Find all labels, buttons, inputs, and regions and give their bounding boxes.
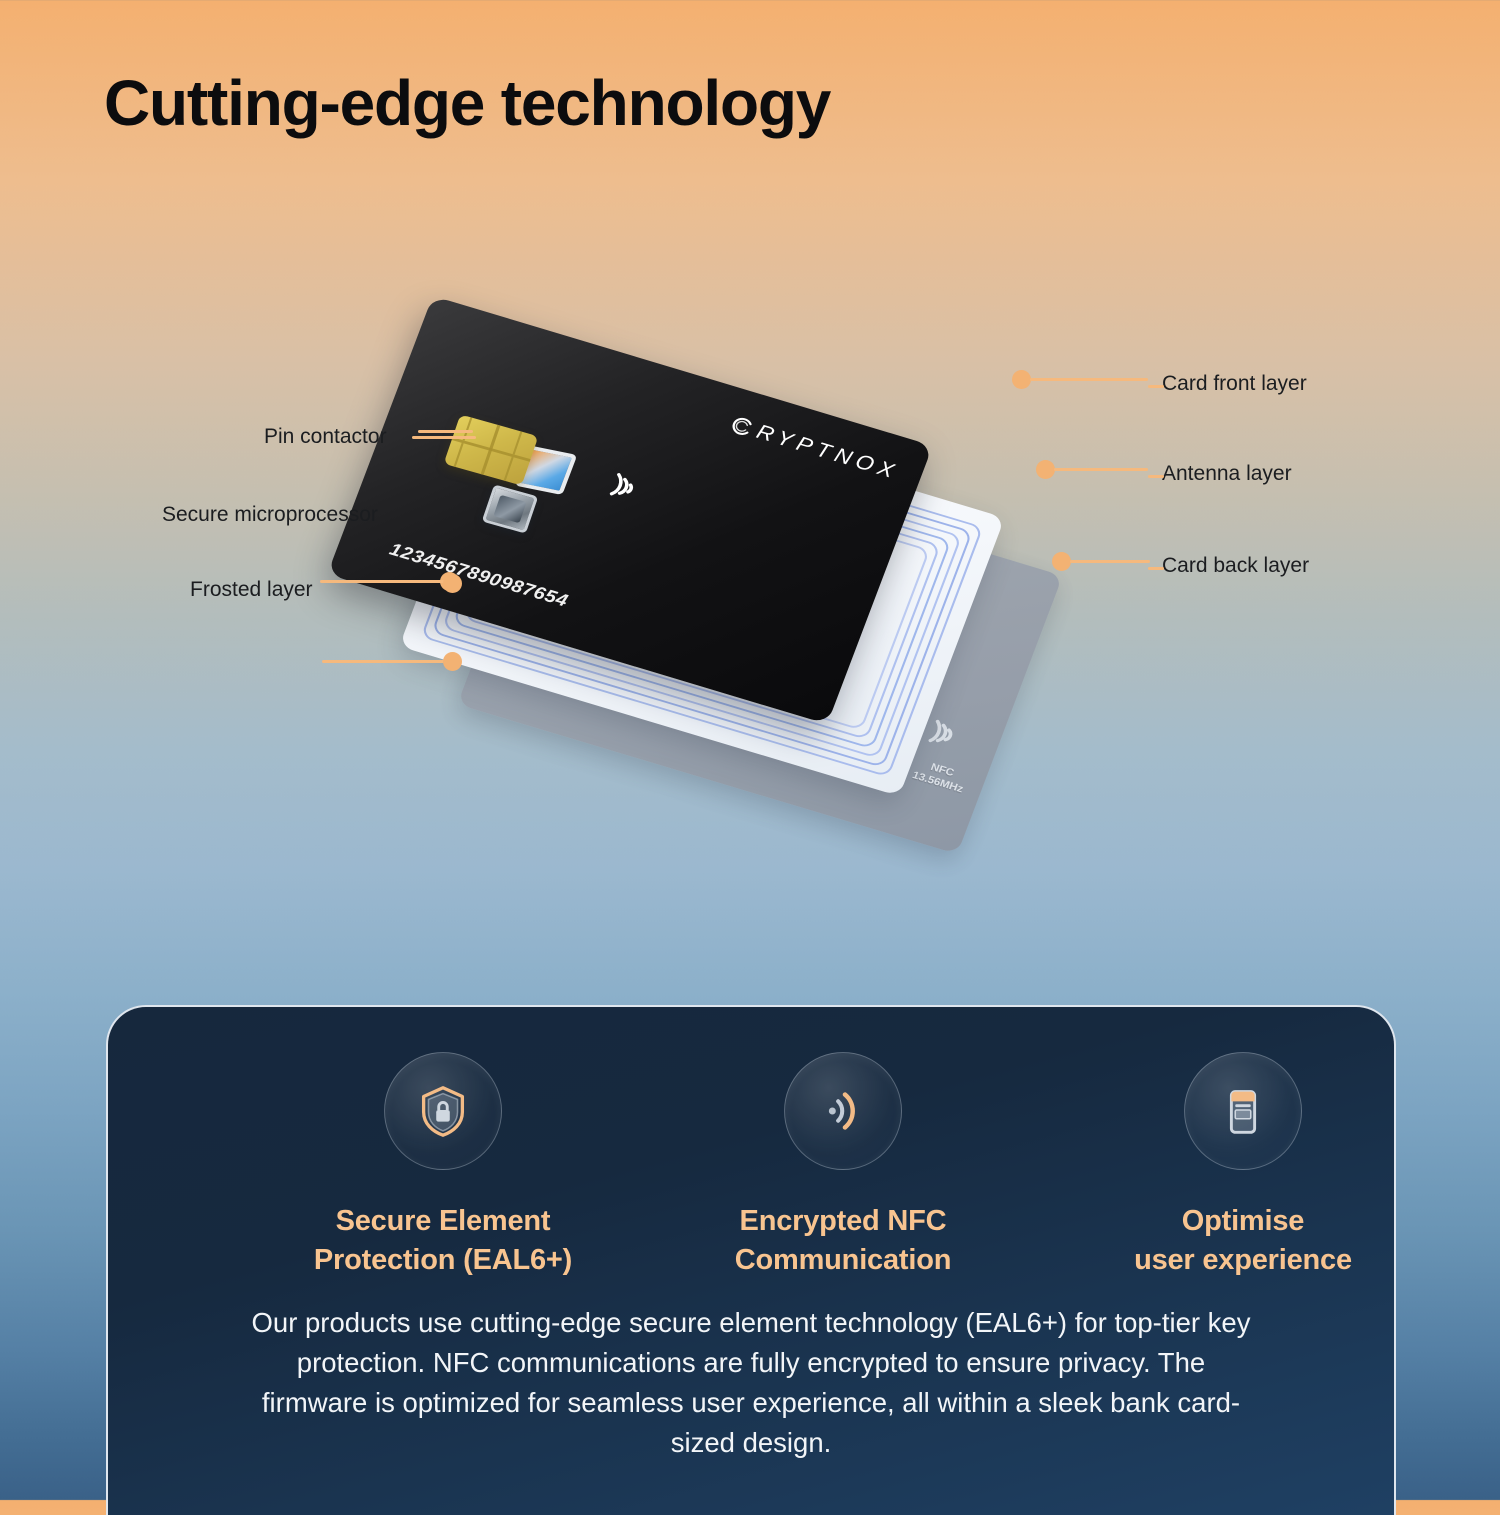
card-device-icon — [1184, 1052, 1302, 1170]
leader-tip-card-front — [1148, 385, 1164, 388]
feature-title-line2: Protection (EAL6+) — [314, 1244, 572, 1276]
feature-title-encrypted-nfc: Encrypted NFC Communication — [735, 1202, 952, 1280]
leader-line-pin-contactor — [418, 430, 473, 433]
shield-lock-icon — [384, 1052, 502, 1170]
feature-title-line1: Secure Element — [336, 1205, 551, 1237]
feature-title-line1: Encrypted NFC — [740, 1205, 947, 1237]
label-pin-contactor: Pin contactor — [264, 425, 387, 449]
leader-dot-microprocessor-anchor — [443, 574, 462, 593]
cryptnox-logo: RYPTNOX — [726, 412, 902, 485]
label-card-back-layer: Card back layer — [1162, 554, 1309, 578]
panel-body-text: Our products use cutting-edge secure ele… — [246, 1303, 1256, 1463]
leader-tip-card-back — [1148, 567, 1164, 570]
leader-tip-antenna — [1148, 475, 1164, 478]
card-number: 1234567890987654 — [386, 540, 570, 612]
feature-encrypted-nfc: Encrypted NFC Communication — [708, 1052, 978, 1280]
leader-line-frosted — [322, 660, 450, 663]
cryptnox-spiral-icon — [726, 412, 758, 440]
leader-tip-pin-contactor — [412, 436, 476, 439]
feature-title-secure-element: Secure Element Protection (EAL6+) — [314, 1202, 572, 1280]
exploded-card-diagram: 0 123456 789012 Fido2 V2.1 Elliptic Curv… — [0, 330, 1500, 890]
leader-dot-card-back — [1052, 552, 1071, 571]
feature-secure-element: Secure Element Protection (EAL6+) — [308, 1052, 578, 1280]
leader-dot-card-front — [1012, 370, 1031, 389]
feature-title-line2: user experience — [1134, 1244, 1352, 1276]
page-title: Cutting-edge technology — [104, 66, 830, 140]
feature-optimise-ux: Optimise user experience — [1108, 1052, 1378, 1280]
feature-title-line1: Optimise — [1182, 1205, 1305, 1237]
feature-title-optimise-ux: Optimise user experience — [1134, 1202, 1352, 1280]
feature-title-line2: Communication — [735, 1244, 952, 1276]
leader-dot-frosted — [443, 652, 462, 671]
leader-line-antenna — [1054, 468, 1148, 471]
cryptnox-wordmark: RYPTNOX — [753, 420, 902, 485]
leader-line-card-back — [1070, 560, 1150, 563]
features-panel: Secure Element Protection (EAL6+) Encryp… — [106, 1005, 1396, 1515]
label-frosted-layer: Frosted layer — [190, 578, 313, 602]
leader-dot-antenna — [1036, 460, 1055, 479]
label-card-front-layer: Card front layer — [1162, 372, 1307, 396]
label-secure-microprocessor: Secure microprocessor — [162, 503, 378, 527]
nfc-wave-icon — [599, 464, 652, 511]
label-antenna-layer: Antenna layer — [1162, 462, 1292, 486]
feature-list: Secure Element Protection (EAL6+) Encryp… — [108, 1052, 1394, 1280]
leader-line-card-front — [1030, 378, 1148, 381]
nfc-signal-icon — [784, 1052, 902, 1170]
leader-line-microprocessor-2 — [320, 580, 450, 583]
